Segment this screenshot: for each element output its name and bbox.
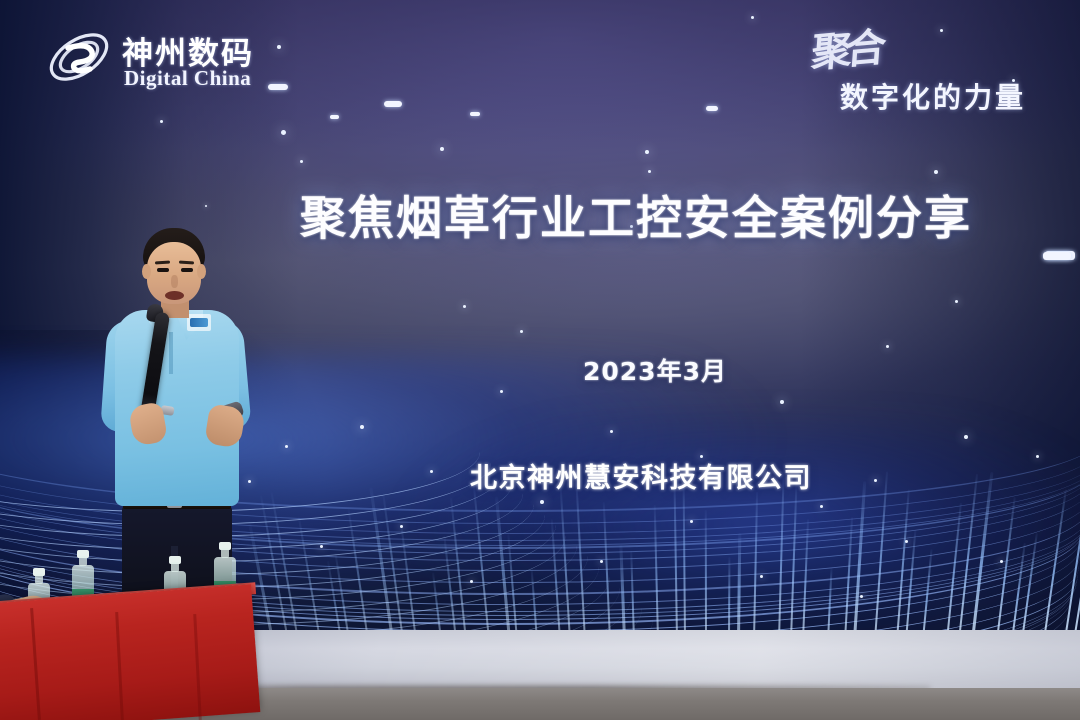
- slogan-seal-text: 聚合: [810, 15, 883, 79]
- streak-fan-line: [844, 517, 853, 638]
- presenter-ear-left: [142, 264, 151, 279]
- light-particle: [751, 16, 754, 19]
- light-particle: [820, 505, 823, 508]
- light-particle: [430, 470, 433, 473]
- streak-fan-line: [382, 493, 403, 638]
- digital-china-swirl-icon: [44, 26, 114, 88]
- streak-fan-line: [495, 497, 511, 638]
- light-particle: [955, 300, 958, 303]
- streak-fan-line: [432, 573, 442, 638]
- light-particle: [1000, 560, 1003, 563]
- streak-fan-line: [400, 525, 416, 638]
- light-particle: [690, 520, 693, 523]
- streak-fan-line: [737, 533, 741, 638]
- slide-company: 北京神州慧安科技有限公司: [470, 456, 812, 495]
- light-particle: [905, 540, 908, 543]
- light-dash: [384, 101, 402, 107]
- light-dash: [470, 112, 480, 116]
- streak-fan-line: [827, 568, 832, 638]
- streak-fan-line: [922, 550, 932, 638]
- streak-fan-line: [996, 497, 1015, 638]
- streak-fan-line: [790, 484, 797, 638]
- light-particle: [463, 305, 466, 308]
- presenter-mouth: [165, 291, 184, 300]
- light-particle: [300, 160, 303, 163]
- light-particle: [500, 390, 503, 393]
- streak-fan-line: [673, 479, 677, 638]
- light-particle: [648, 170, 651, 173]
- streak-fan-line: [853, 482, 866, 638]
- streak-fan-line: [347, 510, 368, 638]
- presenter-shirt-placket: [169, 332, 173, 374]
- light-particle: [964, 435, 968, 439]
- slide-title: 聚焦烟草行业工控安全案例分享: [300, 182, 972, 248]
- streak-fan-line: [705, 510, 707, 638]
- light-particle: [540, 500, 544, 504]
- presenter-eye-left: [157, 268, 169, 272]
- brand-slogan-right: 聚合 数字化的力量: [788, 18, 1058, 118]
- light-particle: [285, 445, 288, 448]
- brand-name-en: Digital China: [124, 66, 251, 91]
- light-particle: [610, 430, 613, 433]
- light-dash: [330, 115, 339, 119]
- light-particle: [160, 120, 163, 123]
- streak-fan-line: [753, 492, 758, 638]
- light-particle: [1036, 455, 1039, 458]
- light-particle: [440, 147, 444, 151]
- streak-fan-line: [1043, 490, 1066, 638]
- streak-fan-line: [551, 520, 561, 638]
- light-particle: [780, 400, 784, 404]
- streak-fan-line: [560, 487, 571, 638]
- light-particle: [886, 345, 889, 348]
- streak-fan-line: [575, 481, 585, 638]
- light-particle: [645, 150, 649, 154]
- streak-fan-line: [728, 557, 730, 638]
- light-particle: [760, 575, 763, 578]
- streak-fan-line: [874, 472, 888, 638]
- stage-photo: 聚焦烟草行业工控安全案例分享 2023年3月 北京神州慧安科技有限公司 神州数码…: [0, 0, 1080, 720]
- presenter-shirt-logo: [187, 314, 211, 331]
- streak-fan-line: [619, 545, 625, 638]
- streak-fan-line: [473, 483, 490, 638]
- streak-fan-line: [508, 534, 518, 638]
- streak-fan-line: [683, 481, 686, 638]
- light-particle: [360, 425, 364, 429]
- slogan-subtitle: 数字化的力量: [840, 76, 1026, 116]
- light-particle: [860, 595, 863, 598]
- light-particle: [281, 130, 286, 135]
- light-particle: [205, 205, 207, 207]
- streak-fan-line: [778, 474, 784, 638]
- streak-fan-line: [443, 536, 456, 638]
- streak-fan-line: [603, 502, 611, 638]
- light-dash: [706, 106, 718, 111]
- light-particle: [600, 560, 603, 563]
- streak-fan-line: [905, 530, 916, 638]
- slide-date: 2023年3月: [583, 352, 727, 388]
- light-particle: [934, 170, 938, 174]
- streak-fan-line: [531, 569, 538, 638]
- streak-fan-line: [631, 551, 635, 638]
- streak-fan-line: [654, 505, 659, 638]
- light-particle: [400, 525, 403, 528]
- streak-fan-line: [369, 488, 393, 638]
- presenter-ear-right: [197, 264, 206, 279]
- light-particle: [320, 545, 323, 548]
- light-particle: [874, 479, 877, 482]
- light-dash: [1043, 252, 1071, 260]
- light-particle: [470, 580, 473, 583]
- light-particle: [520, 330, 523, 333]
- streak-fan-line: [802, 519, 809, 638]
- streak-fan-line: [298, 517, 321, 638]
- presenter-nose: [171, 275, 178, 288]
- presenter-eye-right: [181, 268, 193, 272]
- brand-logo-left: 神州数码 Digital China: [44, 22, 304, 96]
